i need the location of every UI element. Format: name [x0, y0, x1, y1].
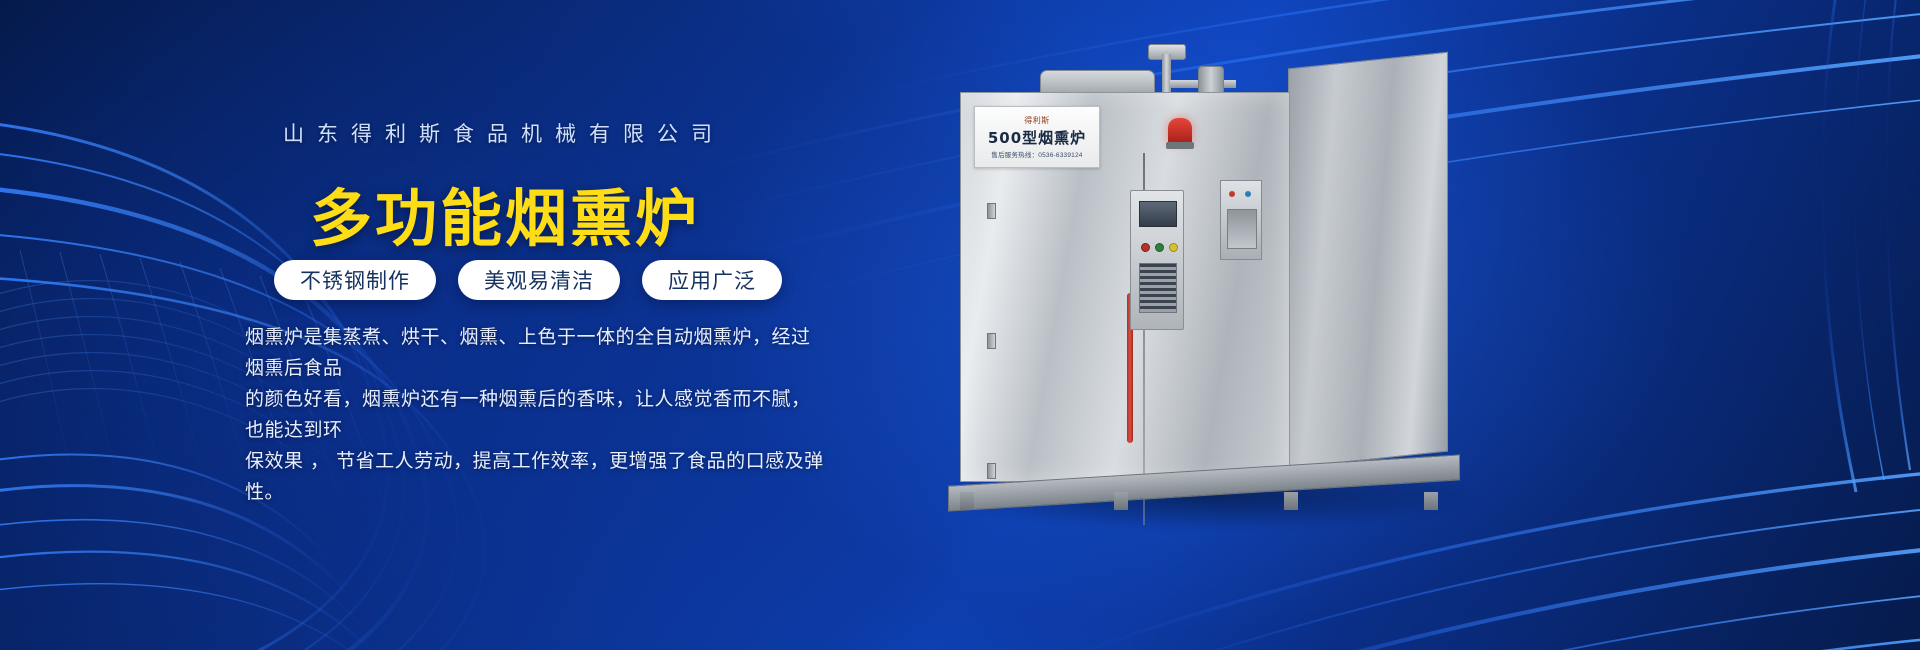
nameplate-model: 500型烟熏炉: [988, 127, 1086, 148]
machine-electrical-box: [1220, 180, 1262, 260]
electrical-box-indicator-blue: [1245, 191, 1251, 197]
machine-alarm-beacon-icon: [1168, 118, 1192, 144]
machine-leg: [960, 492, 974, 510]
machine-beacon-base: [1166, 142, 1194, 149]
electrical-box-indicator-red: [1229, 191, 1235, 197]
feature-pill-list: 不锈钢制作 美观易清洁 应用广泛: [274, 260, 782, 300]
machine-hinge: [987, 463, 996, 479]
control-panel-button-yellow: [1169, 243, 1178, 252]
description-line-3: 保效果 ， 节省工人劳动，提高工作效率，更增强了食品的口感及弹性。: [245, 446, 825, 508]
control-panel-display: [1139, 201, 1177, 227]
control-panel-button-green: [1155, 243, 1164, 252]
description-line-1: 烟熏炉是集蒸煮、烘干、烟熏、上色于一体的全自动烟熏炉，经过烟熏后食品: [245, 322, 825, 384]
machine-control-panel: [1130, 190, 1184, 330]
nameplate-brand: 得利斯: [1024, 115, 1050, 126]
product-banner: 山东得利斯食品机械有限公司 多功能烟熏炉 不锈钢制作 美观易清洁 应用广泛 烟熏…: [0, 0, 1920, 650]
machine-side-wall: [1288, 52, 1448, 469]
feature-pill-wide-use[interactable]: 应用广泛: [642, 260, 782, 300]
machine-leg: [1424, 492, 1438, 510]
product-description: 烟熏炉是集蒸煮、烘干、烟熏、上色于一体的全自动烟熏炉，经过烟熏后食品 的颜色好看…: [245, 322, 825, 508]
feature-pill-easy-clean[interactable]: 美观易清洁: [458, 260, 620, 300]
description-line-2: 的颜色好看，烟熏炉还有一种烟熏后的香味，让人感觉香而不腻，也能达到环: [245, 384, 825, 446]
machine-leg: [1284, 492, 1298, 510]
product-photo-smokehouse-oven: 得利斯 500型烟熏炉 售后服务热线：0536-6339124: [930, 40, 1550, 540]
machine-hinge: [987, 333, 996, 349]
electrical-box-panel: [1227, 209, 1257, 249]
machine-legs: [954, 492, 1454, 510]
control-panel-button-red: [1141, 243, 1150, 252]
company-name: 山东得利斯食品机械有限公司: [283, 118, 725, 148]
control-panel-vent: [1139, 263, 1177, 313]
feature-pill-stainless[interactable]: 不锈钢制作: [274, 260, 436, 300]
banner-content: 山东得利斯食品机械有限公司 多功能烟熏炉 不锈钢制作 美观易清洁 应用广泛 烟熏…: [240, 0, 860, 650]
machine-leg: [1114, 492, 1128, 510]
machine-hinge: [987, 203, 996, 219]
nameplate-hotline: 售后服务热线：0536-6339124: [991, 149, 1082, 159]
machine-nameplate: 得利斯 500型烟熏炉 售后服务热线：0536-6339124: [974, 106, 1100, 168]
page-title: 多功能烟熏炉: [310, 168, 700, 258]
